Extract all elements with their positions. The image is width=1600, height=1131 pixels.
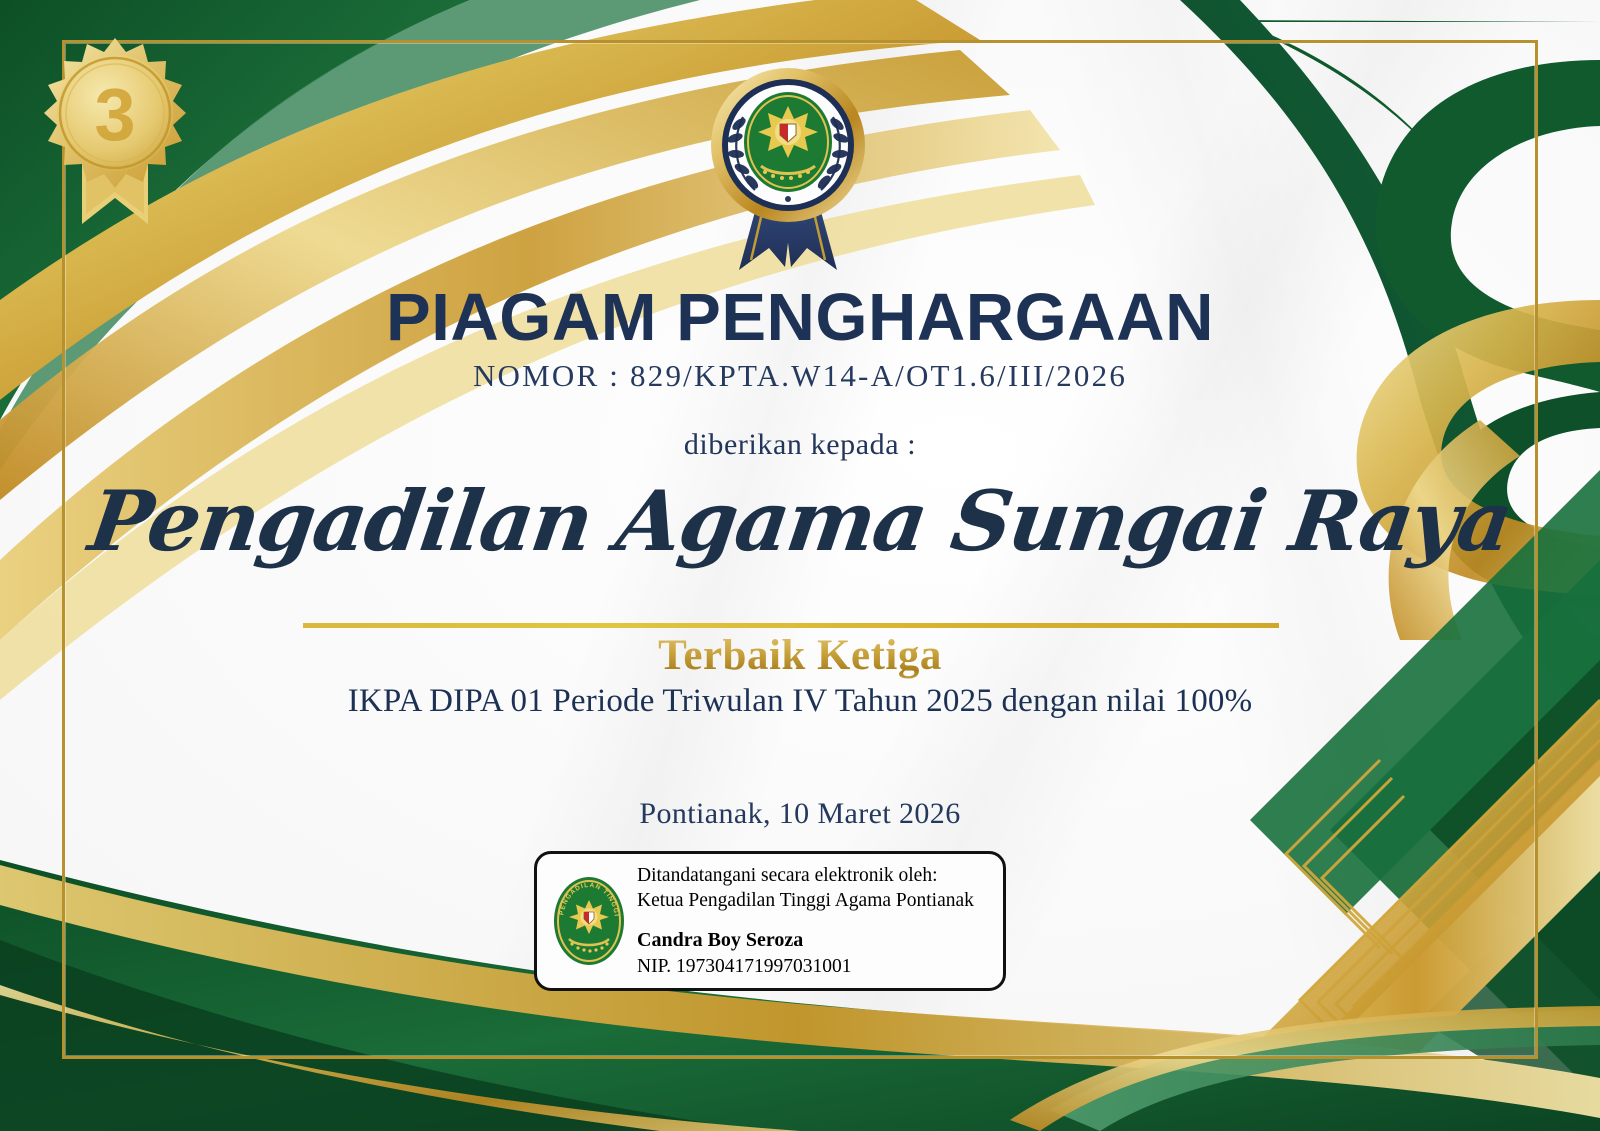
certificate-page: 3 (0, 0, 1600, 1131)
svg-text:3: 3 (94, 73, 135, 156)
signer-name: Candra Boy Seroza (637, 927, 974, 953)
rank-3-medal-badge: 3 (30, 28, 200, 233)
signer-nip: NIP. 197304171997031001 (637, 954, 974, 980)
page-title: PIAGAM PENGHARGAAN (0, 284, 1600, 351)
signed-electronically-line: Ditandatangani secara elektronik oleh: (637, 863, 974, 889)
award-medallion (693, 62, 883, 277)
recipient-name: Pengadilan Agama Sungai Raya (0, 478, 1600, 565)
signature-text-block: Ditandatangani secara elektronik oleh: K… (637, 863, 974, 980)
award-description: IKPA DIPA 01 Periode Triwulan IV Tahun 2… (0, 683, 1600, 720)
certificate-number: NOMOR : 829/KPTA.W14-A/OT1.6/III/2026 (0, 358, 1600, 394)
award-rank: Terbaik Ketiga (0, 626, 1600, 686)
electronic-signature-box: PENGADILAN TINGGI AGAMA PONTIANAK (534, 851, 1006, 991)
given-to-label: diberikan kepada : (0, 428, 1600, 462)
court-seal-icon: PENGADILAN TINGGI AGAMA PONTIANAK (551, 875, 627, 967)
signer-role-line: Ketua Pengadilan Tinggi Agama Pontianak (637, 888, 974, 914)
place-and-date: Pontianak, 10 Maret 2026 (0, 797, 1600, 831)
